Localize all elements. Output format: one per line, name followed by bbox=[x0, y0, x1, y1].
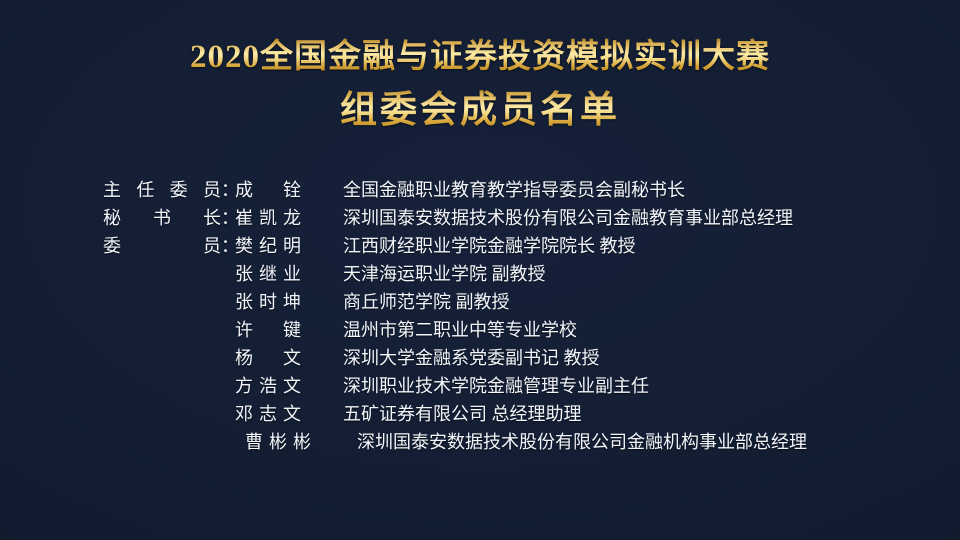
roster-role-label: 秘书长 bbox=[103, 204, 221, 232]
roster-member-name: 张继业 bbox=[235, 260, 301, 288]
roster-member-affiliation: 深圳职业技术学院金融管理专业副主任 bbox=[343, 372, 649, 400]
roster-member-affiliation: 深圳国泰安数据技术股份有限公司金融机构事业部总经理 bbox=[357, 428, 807, 456]
roster-member-affiliation: 五矿证券有限公司 总经理助理 bbox=[343, 400, 582, 428]
roster-member-name: 成铨 bbox=[235, 176, 301, 204]
roster-member-affiliation: 江西财经职业学院金融学院院长 教授 bbox=[343, 232, 636, 260]
roster-member-name: 方浩文 bbox=[235, 372, 301, 400]
roster-member-affiliation: 全国金融职业教育教学指导委员会副秘书长 bbox=[343, 176, 685, 204]
roster-row: 张时坤商丘师范学院 副教授 bbox=[0, 288, 960, 316]
roster-member-affiliation: 深圳大学金融系党委副书记 教授 bbox=[343, 344, 600, 372]
roster-row: 委员：樊纪明江西财经职业学院金融学院院长 教授 bbox=[0, 232, 960, 260]
roster-row: 邓志文五矿证券有限公司 总经理助理 bbox=[0, 400, 960, 428]
roster-member-name: 樊纪明 bbox=[235, 232, 301, 260]
roster-row: 秘书长：崔凯龙深圳国泰安数据技术股份有限公司金融教育事业部总经理 bbox=[0, 204, 960, 232]
roster-member-name: 邓志文 bbox=[235, 400, 301, 428]
roster-member-name: 张时坤 bbox=[235, 288, 301, 316]
presentation-slide: 2020全国金融与证券投资模拟实训大赛 组委会成员名单 主任委员：成铨全国金融职… bbox=[0, 0, 960, 540]
roster-member-affiliation: 温州市第二职业中等专业学校 bbox=[343, 316, 577, 344]
roster-colon: ： bbox=[221, 204, 231, 232]
roster-member-affiliation: 天津海运职业学院 副教授 bbox=[343, 260, 546, 288]
roster-member-name: 崔凯龙 bbox=[235, 204, 301, 232]
roster-member-affiliation: 商丘师范学院 副教授 bbox=[343, 288, 510, 316]
roster-colon: ： bbox=[221, 232, 231, 260]
roster-row: 主任委员：成铨全国金融职业教育教学指导委员会副秘书长 bbox=[0, 176, 960, 204]
roster-row: 张继业天津海运职业学院 副教授 bbox=[0, 260, 960, 288]
roster-row: 曹彬彬深圳国泰安数据技术股份有限公司金融机构事业部总经理 bbox=[0, 428, 960, 456]
roster-member-name: 杨文 bbox=[235, 344, 301, 372]
committee-roster: 主任委员：成铨全国金融职业教育教学指导委员会副秘书长秘书长：崔凯龙深圳国泰安数据… bbox=[0, 176, 960, 456]
roster-member-name: 曹彬彬 bbox=[245, 428, 311, 456]
roster-row: 许键温州市第二职业中等专业学校 bbox=[0, 316, 960, 344]
slide-title-main: 2020全国金融与证券投资模拟实训大赛 bbox=[0, 36, 960, 78]
roster-colon: ： bbox=[221, 176, 231, 204]
title-block: 2020全国金融与证券投资模拟实训大赛 组委会成员名单 bbox=[0, 36, 960, 136]
roster-role-label: 主任委员 bbox=[103, 176, 221, 204]
roster-row: 方浩文深圳职业技术学院金融管理专业副主任 bbox=[0, 372, 960, 400]
roster-member-affiliation: 深圳国泰安数据技术股份有限公司金融教育事业部总经理 bbox=[343, 204, 793, 232]
slide-title-sub: 组委会成员名单 bbox=[0, 86, 960, 136]
roster-role-label: 委员 bbox=[103, 232, 221, 260]
roster-member-name: 许键 bbox=[235, 316, 301, 344]
roster-row: 杨文深圳大学金融系党委副书记 教授 bbox=[0, 344, 960, 372]
